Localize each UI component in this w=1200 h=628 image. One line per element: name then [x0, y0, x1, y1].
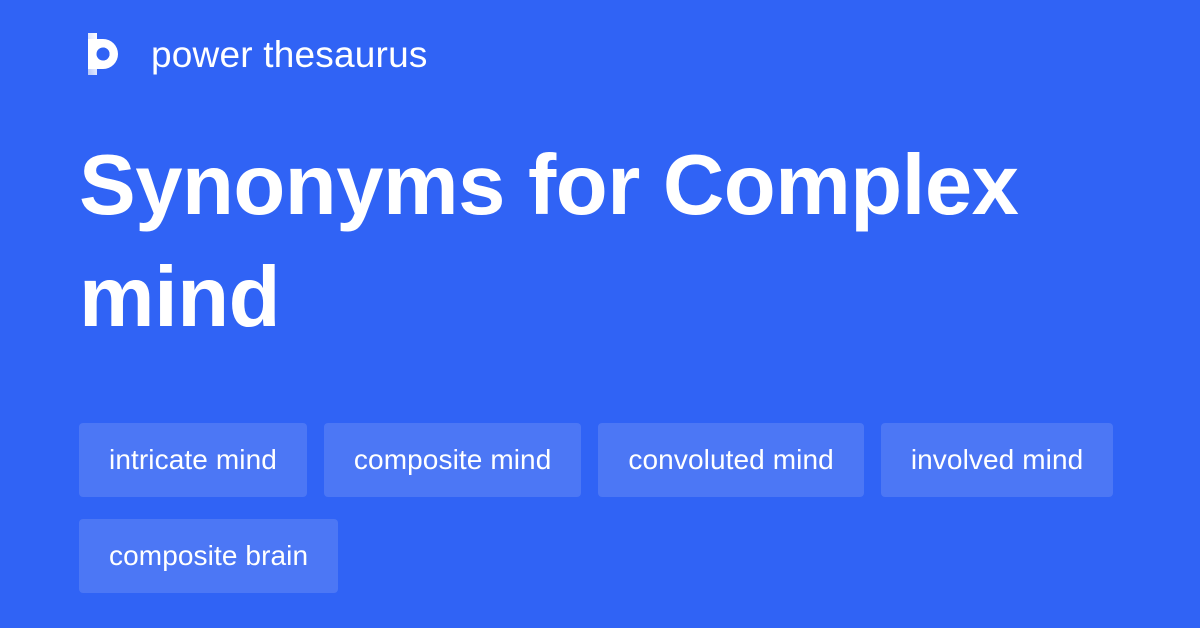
synonym-chip[interactable]: composite brain	[79, 519, 338, 593]
power-thesaurus-b-logo-icon	[79, 29, 129, 79]
synonym-chip[interactable]: intricate mind	[79, 423, 307, 497]
brand-name: power thesaurus	[151, 36, 428, 73]
share-card: power thesaurus Synonyms for Complex min…	[0, 0, 1200, 628]
brand-header[interactable]: power thesaurus	[79, 26, 428, 82]
synonym-chip[interactable]: composite mind	[324, 423, 581, 497]
synonym-chip[interactable]: convoluted mind	[598, 423, 863, 497]
synonym-chip-list: intricate mind composite mind convoluted…	[79, 423, 1129, 593]
synonym-chip[interactable]: involved mind	[881, 423, 1114, 497]
page-title: Synonyms for Complex mind	[79, 130, 1079, 354]
